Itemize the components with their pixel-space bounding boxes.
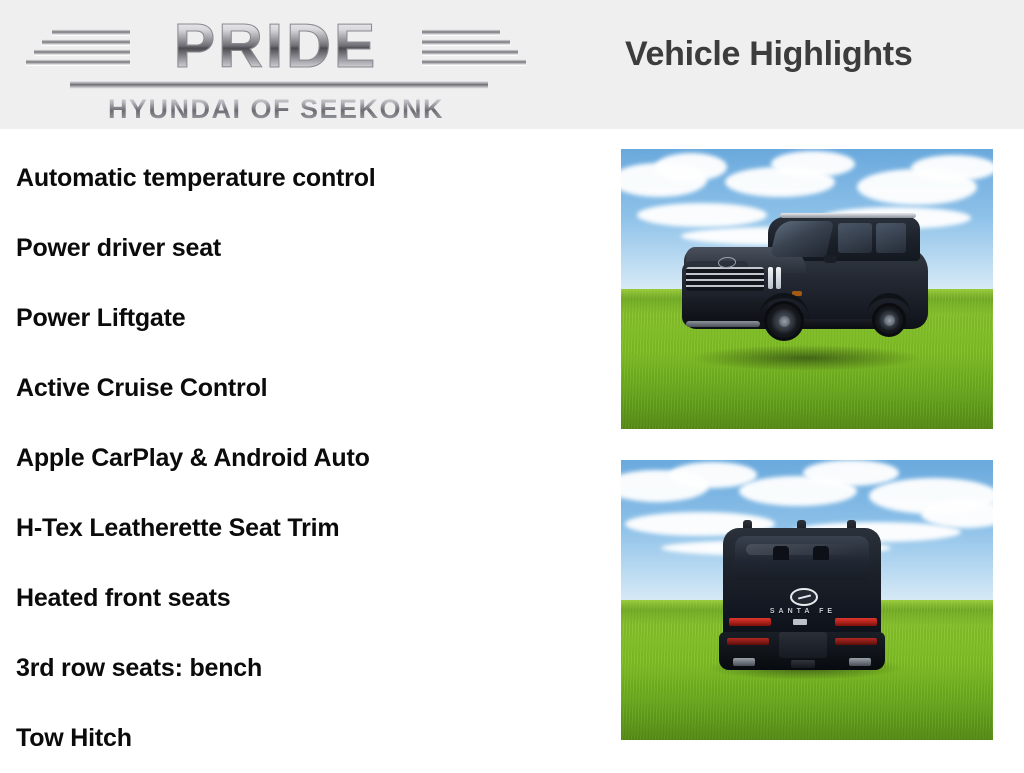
- roof-rail: [780, 213, 916, 218]
- cloud: [803, 460, 899, 486]
- list-item: Active Cruise Control: [0, 353, 600, 423]
- tailgate-nameplate: SANTA FE: [745, 608, 861, 615]
- bumper-reflector: [727, 638, 769, 645]
- suv-front-illustration: [676, 205, 936, 355]
- skid-plate: [686, 321, 760, 327]
- list-item: Tow Hitch: [0, 703, 600, 773]
- cloud: [771, 151, 855, 177]
- trim-badge: [793, 619, 807, 625]
- logo-underbar: [70, 80, 488, 89]
- wing-bar: [422, 49, 518, 55]
- list-item: Apple CarPlay & Android Auto: [0, 423, 600, 493]
- front-wheel: [764, 301, 804, 341]
- wing-bar: [26, 59, 130, 65]
- pride-hyundai-logo: PRIDE HYUNDAI OF SEEKONK: [22, 8, 530, 123]
- list-item: Heated front seats: [0, 563, 600, 633]
- list-item: Automatic temperature control: [0, 143, 600, 213]
- bumper-reflector: [835, 638, 877, 645]
- license-plate: [779, 632, 827, 658]
- exhaust-tip: [733, 658, 755, 666]
- logo-right-wing-icon: [422, 29, 530, 65]
- side-window: [838, 223, 872, 253]
- wing-bar: [34, 49, 130, 55]
- cloud: [911, 155, 993, 181]
- cloud: [655, 153, 727, 181]
- logo-subtitle: HYUNDAI OF SEEKONK: [22, 94, 530, 124]
- wing-bar: [422, 39, 510, 45]
- photo-scene: SANTA FE: [621, 460, 993, 740]
- side-mirror: [824, 255, 837, 263]
- side-window: [876, 223, 906, 253]
- list-item: H-Tex Leatherette Seat Trim: [0, 493, 600, 563]
- vehicle-highlights-list: Automatic temperature control Power driv…: [0, 129, 600, 773]
- front-bumper: [682, 297, 768, 323]
- front-grille: [686, 267, 764, 291]
- wing-bar: [422, 59, 526, 65]
- tail-light: [729, 618, 771, 626]
- list-item: Power driver seat: [0, 213, 600, 283]
- wing-bar: [52, 29, 130, 35]
- rear-wheel: [872, 303, 906, 337]
- vehicle-photo-rear: SANTA FE: [621, 460, 993, 740]
- hyundai-h-logo-icon: [790, 588, 818, 606]
- wheel-hub: [779, 316, 790, 327]
- wheel-hub: [884, 315, 895, 326]
- page-title: Vehicle Highlights: [560, 0, 1024, 74]
- logo-wordmark-row: PRIDE: [22, 8, 530, 86]
- wing-bar: [42, 39, 130, 45]
- tow-hitch-icon: [791, 660, 815, 668]
- page-header: PRIDE HYUNDAI OF SEEKONK Vehicle Highlig…: [0, 0, 1024, 129]
- vehicle-photo-front: [621, 149, 993, 429]
- list-item: 3rd row seats: bench: [0, 633, 600, 703]
- windshield: [770, 221, 834, 257]
- headrest: [773, 546, 789, 560]
- daytime-running-light: [768, 267, 773, 289]
- headrest: [813, 546, 829, 560]
- wing-bar: [422, 29, 500, 35]
- logo-wordmark: PRIDE: [130, 16, 422, 78]
- list-item: Power Liftgate: [0, 283, 600, 353]
- tail-light: [835, 618, 877, 626]
- rear-window: [735, 536, 869, 580]
- exhaust-tip: [849, 658, 871, 666]
- suv-rear-illustration: SANTA FE: [717, 512, 887, 672]
- logo-left-wing-icon: [22, 29, 130, 65]
- daytime-running-light: [776, 267, 781, 289]
- photo-scene: [621, 149, 993, 429]
- dealer-brand-block: PRIDE HYUNDAI OF SEEKONK: [0, 0, 560, 129]
